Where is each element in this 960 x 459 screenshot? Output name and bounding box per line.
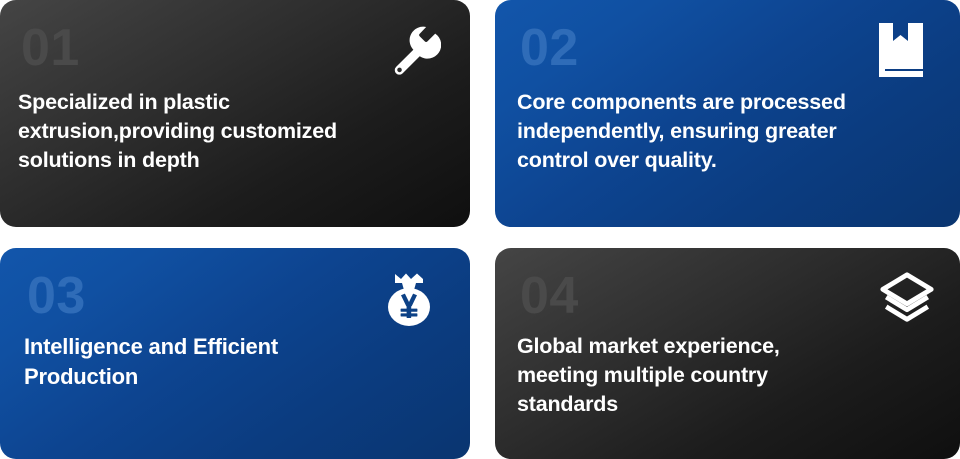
card-number-02: 02 [520, 22, 934, 74]
card-number-03: 03 [27, 270, 444, 322]
card-text-01: Specialized in plastic extrusion,providi… [18, 88, 438, 175]
feature-card-03[interactable]: 03 Intelligence and Efficient Production [0, 248, 470, 459]
card-text-04: Global market experience, meeting multip… [517, 332, 934, 419]
card-number-04: 04 [520, 270, 934, 322]
feature-card-04[interactable]: 04 Global market experience, meeting mul… [495, 248, 960, 459]
feature-card-02[interactable]: 02 Core components are processed indepen… [495, 0, 960, 227]
card-text-02: Core components are processed independen… [517, 88, 934, 175]
card-text-03: Intelligence and Efficient Production [24, 332, 444, 391]
card-number-01: 01 [21, 22, 444, 74]
feature-card-01[interactable]: 01 Specialized in plastic extrusion,prov… [0, 0, 470, 227]
feature-card-grid: 01 Specialized in plastic extrusion,prov… [0, 0, 960, 459]
